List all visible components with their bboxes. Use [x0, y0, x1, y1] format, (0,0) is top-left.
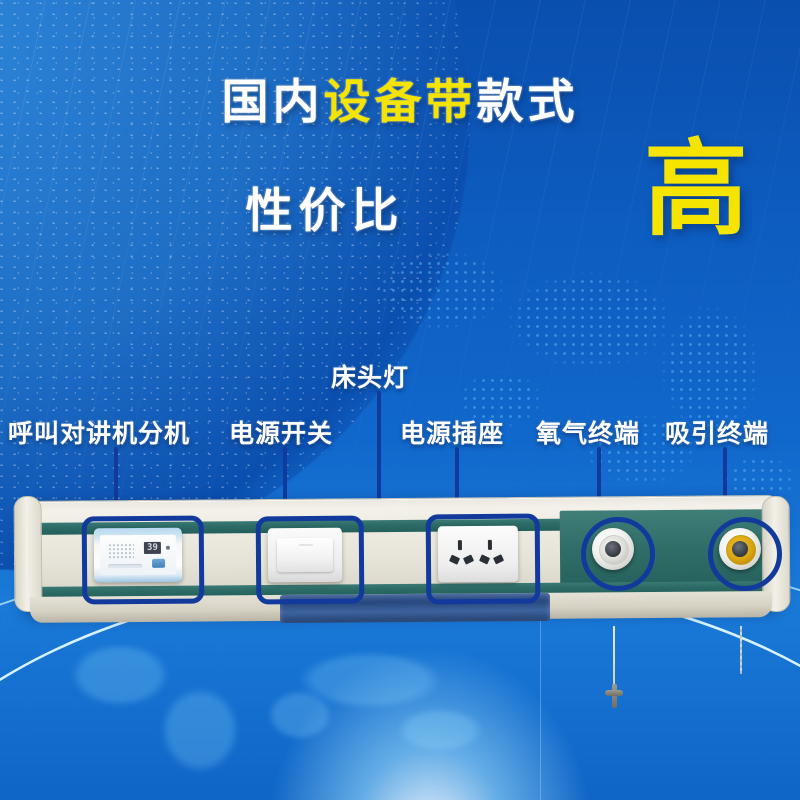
headline-text-b: 款式	[477, 75, 579, 128]
medical-bed-head-unit: 39	[22, 498, 780, 630]
intercom-microphone-slot	[108, 564, 142, 568]
headline-highlight-char: 高	[644, 138, 748, 242]
headline-text-a: 国内	[222, 75, 324, 128]
intercom-faceplate: 39	[100, 535, 176, 576]
callout-label-oxygen-terminal: 氧气终端	[536, 414, 640, 450]
headline-block: 国内设备带款式	[0, 78, 800, 125]
suction-terminal[interactable]	[719, 528, 761, 570]
suction-terminal-port-icon	[732, 541, 748, 557]
headline-line-1: 国内设备带款式	[0, 78, 800, 125]
power-switch[interactable]	[268, 528, 342, 583]
callout-label-bed-lamp: 床头灯	[331, 358, 409, 394]
callout-label-power-switch: 电源开关	[229, 414, 333, 450]
headline-accent-text: 设备带	[324, 75, 477, 128]
suction-hose-cord	[740, 626, 742, 674]
nurse-call-intercom[interactable]: 39	[94, 528, 182, 583]
headline-row-2: 性价比 高	[0, 160, 800, 244]
promo-image-canvas: 国内设备带款式 性价比 高 呼叫对讲机分机 电源开关 床头灯 电源插座 氧气终端…	[0, 0, 800, 800]
status-led-icon	[166, 546, 170, 550]
socket-b-pin-right-icon	[493, 554, 504, 564]
switch-rocker[interactable]	[277, 538, 333, 572]
hose-cross-fitting-icon	[605, 684, 623, 708]
oxygen-hose-cord	[613, 626, 615, 688]
grid-vertical-line	[540, 600, 541, 800]
speaker-grille-icon	[108, 543, 134, 559]
oxygen-terminal[interactable]	[592, 528, 634, 570]
socket-b-pin-top-icon	[488, 540, 492, 550]
horizon-light-bloom	[260, 640, 600, 800]
callout-label-power-socket: 电源插座	[400, 414, 504, 450]
switch-indicator-icon	[299, 544, 313, 546]
callout-label-nurse-call-intercom: 呼叫对讲机分机	[8, 414, 190, 450]
socket-b-pin-left-icon	[479, 554, 490, 564]
socket-a-pin-top-icon	[458, 540, 462, 550]
callout-label-suction-terminal: 吸引终端	[665, 414, 769, 450]
bed-lamp[interactable]	[280, 593, 550, 623]
power-socket[interactable]	[438, 526, 518, 583]
socket-a-pin-left-icon	[449, 555, 460, 565]
panel-end-cap-left	[14, 496, 43, 612]
oxygen-terminal-port-icon	[605, 541, 621, 557]
intercom-call-button[interactable]	[152, 559, 165, 568]
intercom-display: 39	[144, 542, 161, 554]
socket-a-pin-right-icon	[463, 554, 474, 564]
